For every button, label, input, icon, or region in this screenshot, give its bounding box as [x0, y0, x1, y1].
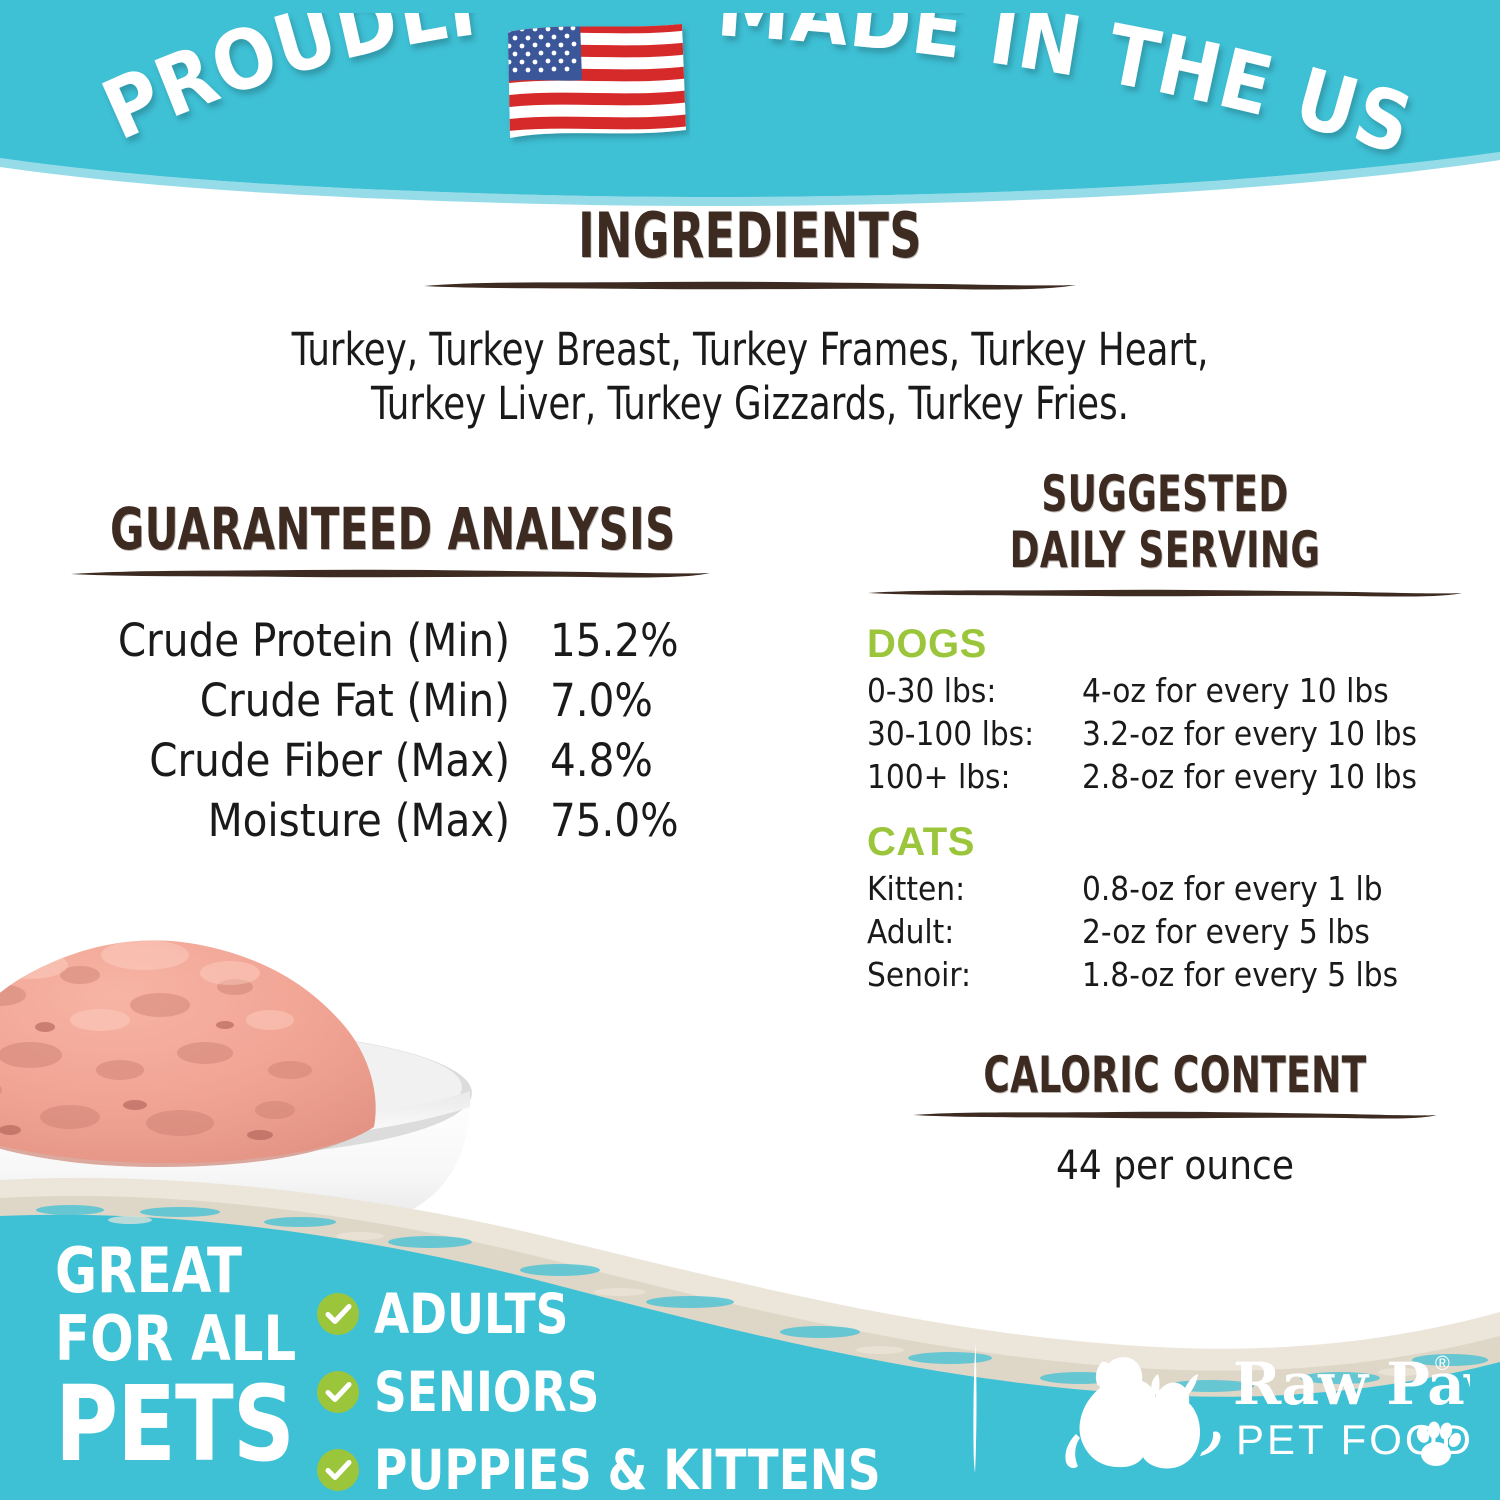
vertical-divider: [972, 1340, 979, 1475]
ga-value: 15.2%: [550, 611, 740, 671]
cat-serving-amount: 1.8-oz for every 5 lbs: [1082, 953, 1398, 996]
guaranteed-analysis-heading: GUARANTEED ANALYSIS: [110, 500, 670, 558]
serving-group-title-cats: CATS: [867, 820, 1485, 865]
caloric-content-divider: [910, 1108, 1440, 1121]
suggested-daily-serving-section: SUGGESTED DAILY SERVING DOGS 0-30 lbs: 4…: [845, 466, 1485, 996]
cat-serving-amount: 2-oz for every 5 lbs: [1082, 910, 1398, 953]
ga-label: Crude Fat (Min): [40, 671, 550, 731]
ingredients-text: Turkey, Turkey Breast, Turkey Frames, Tu…: [0, 323, 1500, 431]
check-circle-icon: [316, 1292, 360, 1336]
cat-life-stage: Senoir:: [867, 953, 1082, 996]
ga-value: 7.0%: [550, 671, 740, 731]
ingredients-line-1: Turkey, Turkey Breast, Turkey Frames, Tu…: [90, 323, 1410, 377]
ingredients-heading: INGREDIENTS: [150, 205, 1350, 267]
guaranteed-analysis-section: GUARANTEED ANALYSIS Crude Protein (Min) …: [40, 500, 740, 851]
ga-value: 75.0%: [550, 791, 740, 851]
serving-group-title-dogs: DOGS: [867, 622, 1485, 667]
ga-label: Moisture (Max): [40, 791, 550, 851]
pet-label: SENIORS: [374, 1365, 599, 1420]
table-row: 100+ lbs: 2.8-oz for every 10 lbs: [867, 755, 1417, 798]
caloric-content-section: CALORIC CONTENT 44 per ounce: [875, 1050, 1475, 1189]
header-teal-shape: [0, 0, 1500, 230]
dog-serving-amount: 4-oz for every 10 lbs: [1082, 669, 1417, 712]
dogs-serving-table: 0-30 lbs: 4-oz for every 10 lbs 30-100 l…: [867, 669, 1417, 798]
table-row: Crude Fat (Min) 7.0%: [40, 671, 740, 731]
dog-weight-range: 100+ lbs:: [867, 755, 1082, 798]
check-circle-icon: [316, 1448, 360, 1492]
ingredients-line-2: Turkey Liver, Turkey Gizzards, Turkey Fr…: [90, 377, 1410, 431]
ga-label: Crude Fiber (Max): [40, 731, 550, 791]
table-row: Kitten: 0.8-oz for every 1 lb: [867, 867, 1398, 910]
sds-heading-line-1: SUGGESTED: [909, 466, 1421, 522]
dog-serving-amount: 2.8-oz for every 10 lbs: [1082, 755, 1417, 798]
list-item: SENIORS: [316, 1361, 916, 1423]
pet-label: PUPPIES & KITTENS: [374, 1443, 881, 1498]
table-row: 0-30 lbs: 4-oz for every 10 lbs: [867, 669, 1417, 712]
usa-flag-icon: [500, 18, 690, 146]
cats-serving-table: Kitten: 0.8-oz for every 1 lb Adult: 2-o…: [867, 867, 1398, 996]
pet-label: ADULTS: [374, 1287, 568, 1342]
great-line-1: GREAT: [55, 1240, 359, 1302]
sds-heading-line-2: DAILY SERVING: [909, 522, 1421, 578]
suggested-daily-serving-divider: [865, 586, 1465, 600]
guaranteed-analysis-table: Crude Protein (Min) 15.2% Crude Fat (Min…: [40, 611, 740, 851]
dog-and-cat-silhouette-icon: [1065, 1357, 1220, 1468]
ga-value: 4.8%: [550, 731, 740, 791]
check-circle-icon: [316, 1370, 360, 1414]
ingredients-section: INGREDIENTS Turkey, Turkey Breast, Turke…: [0, 205, 1500, 431]
registered-mark: ®: [1435, 1353, 1450, 1375]
caloric-content-heading: CALORIC CONTENT: [935, 1050, 1415, 1100]
table-row: Moisture (Max) 75.0%: [40, 791, 740, 851]
dog-serving-amount: 3.2-oz for every 10 lbs: [1082, 712, 1417, 755]
serving-group-cats: CATS Kitten: 0.8-oz for every 1 lb Adult…: [845, 820, 1485, 996]
pets-checklist: ADULTS SENIORS PUPPIES & KITTENS: [316, 1283, 916, 1500]
table-row: Adult: 2-oz for every 5 lbs: [867, 910, 1398, 953]
header-banner: PROUDLY MADE IN THE USA: [0, 0, 1500, 230]
dog-weight-range: 0-30 lbs:: [867, 669, 1082, 712]
product-label-infographic: PROUDLY MADE IN THE USA: [0, 0, 1500, 1500]
guaranteed-analysis-divider: [68, 566, 713, 581]
dog-weight-range: 30-100 lbs:: [867, 712, 1082, 755]
cat-life-stage: Kitten:: [867, 867, 1082, 910]
table-row: 30-100 lbs: 3.2-oz for every 10 lbs: [867, 712, 1417, 755]
table-row: Crude Fiber (Max) 4.8%: [40, 731, 740, 791]
list-item: ADULTS: [316, 1283, 916, 1345]
great-line-2: FOR ALL: [55, 1308, 359, 1370]
ingredients-divider: [420, 277, 1080, 293]
serving-group-dogs: DOGS 0-30 lbs: 4-oz for every 10 lbs 30-…: [845, 622, 1485, 798]
suggested-daily-serving-heading: SUGGESTED DAILY SERVING: [845, 466, 1485, 578]
brand-logo: Raw Paws ® PET FOOD: [1040, 1338, 1470, 1483]
list-item: PUPPIES & KITTENS: [316, 1439, 916, 1500]
table-row: Crude Protein (Min) 15.2%: [40, 611, 740, 671]
cat-life-stage: Adult:: [867, 910, 1082, 953]
cat-serving-amount: 0.8-oz for every 1 lb: [1082, 867, 1398, 910]
great-line-3: PETS: [55, 1372, 359, 1476]
table-row: Senoir: 1.8-oz for every 5 lbs: [867, 953, 1398, 996]
ga-label: Crude Protein (Min): [40, 611, 550, 671]
